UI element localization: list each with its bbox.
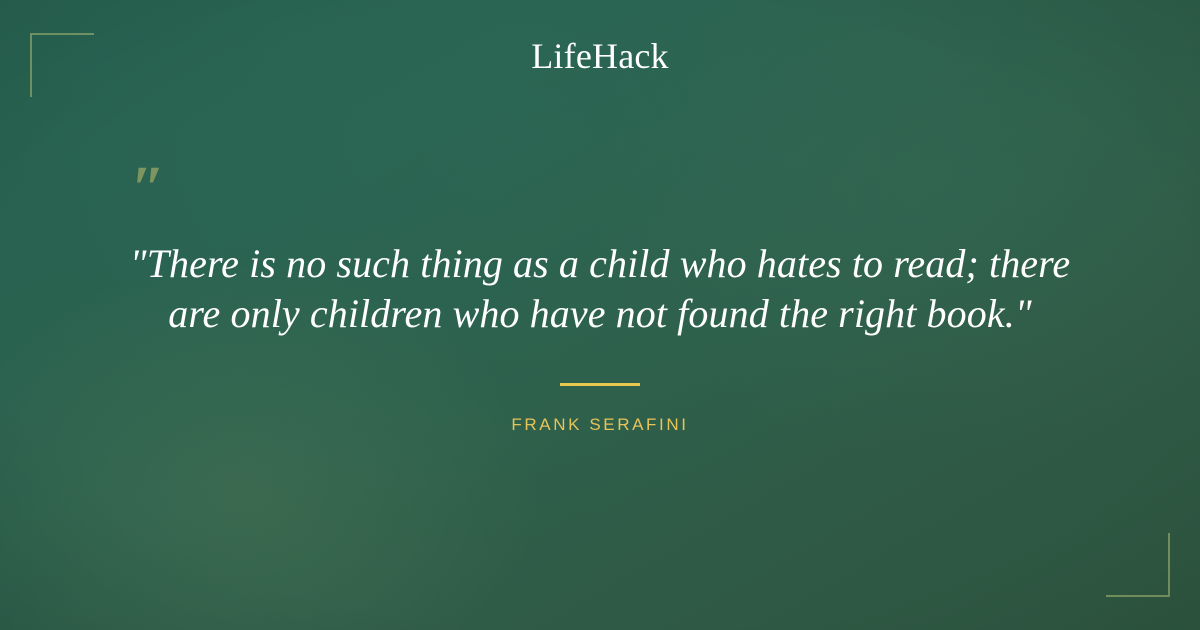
quote-author: FRANK SERAFINI — [0, 415, 1200, 435]
quote-text: "There is no such thing as a child who h… — [100, 239, 1100, 339]
quote-content: ″ "There is no such thing as a child who… — [0, 0, 1200, 630]
quotation-mark-icon: ″ — [131, 158, 166, 220]
quote-card: LifeHack ″ "There is no such thing as a … — [0, 0, 1200, 630]
divider — [560, 383, 640, 386]
